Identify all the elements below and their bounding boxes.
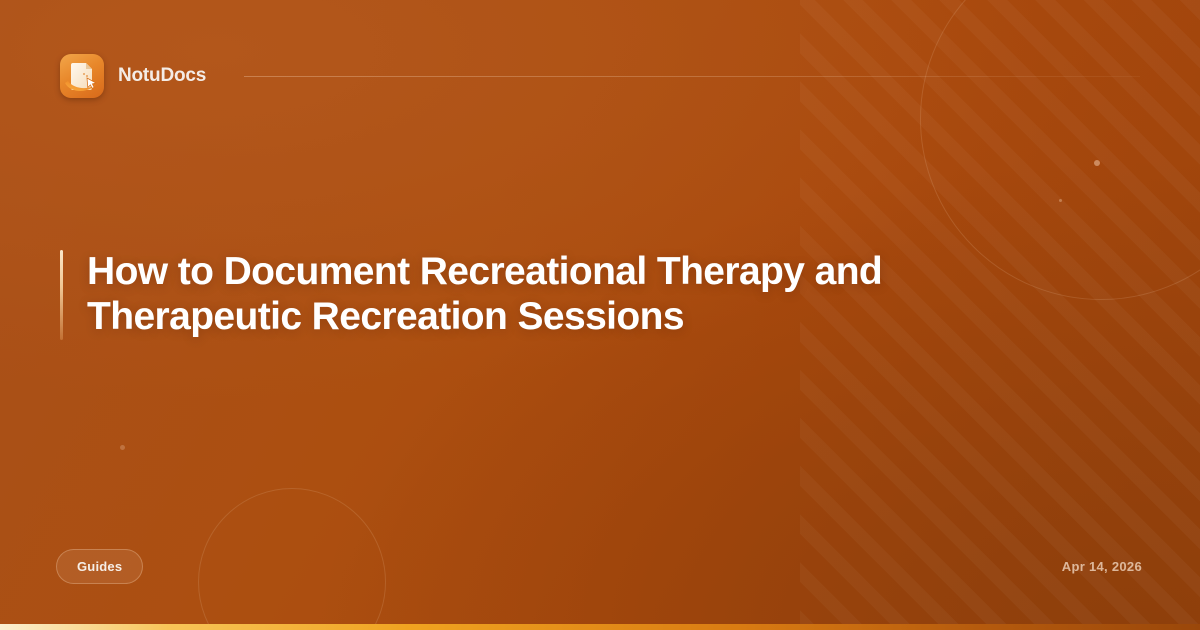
banner-header: NotuDocs: [60, 52, 1140, 100]
publish-date: Apr 14, 2026: [1062, 559, 1142, 574]
decorative-circle-top-right: [920, 0, 1200, 300]
category-badge[interactable]: Guides: [56, 549, 143, 584]
header-divider: [244, 76, 1140, 77]
decorative-dot: [1059, 199, 1062, 202]
bottom-accent-bar: [0, 624, 1200, 630]
hero-title-block: How to Document Recreational Therapy and…: [60, 250, 940, 340]
decorative-circle-bottom-left: [198, 488, 386, 630]
blog-hero-banner: NotuDocs How to Document Recreational Th…: [0, 0, 1200, 630]
document-cursor-icon[interactable]: [60, 54, 104, 98]
brand-name[interactable]: NotuDocs: [118, 65, 206, 87]
title-accent-bar: [60, 250, 63, 340]
page-title: How to Document Recreational Therapy and…: [87, 250, 940, 340]
decorative-dot: [1094, 160, 1100, 166]
decorative-dot: [120, 445, 125, 450]
